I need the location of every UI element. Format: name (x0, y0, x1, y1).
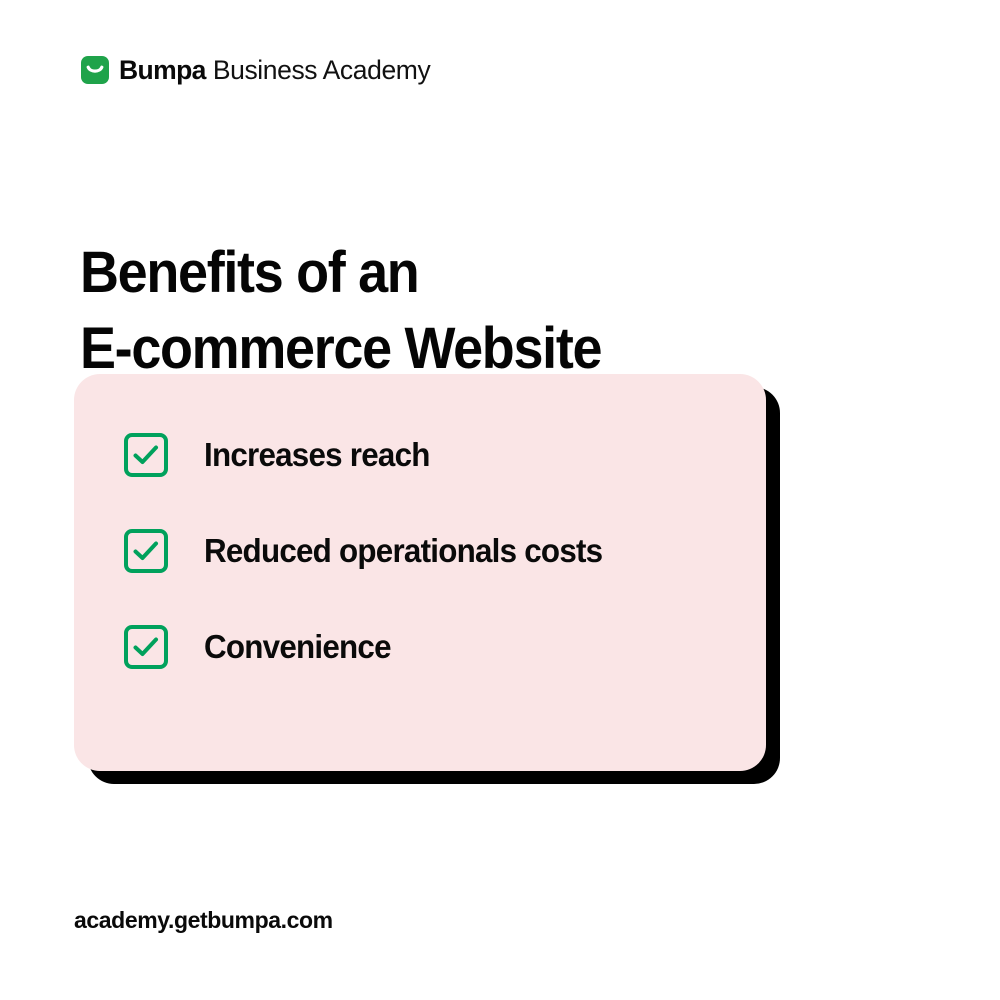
checkbox-checked-icon[interactable] (124, 625, 168, 669)
list-item-label: Increases reach (204, 436, 430, 474)
footer-url[interactable]: academy.getbumpa.com (74, 907, 333, 934)
brand-name: Bumpa (119, 55, 206, 86)
slide-canvas: Bumpa Business Academy Benefits of an E-… (0, 0, 1000, 1000)
list-item-label: Convenience (204, 628, 391, 666)
card-surface: Increases reach Reduced operationals cos… (74, 374, 766, 771)
list-item-label: Reduced operationals costs (204, 532, 602, 570)
list-item[interactable]: Increases reach (124, 433, 623, 477)
benefits-list: Increases reach Reduced operationals cos… (124, 433, 623, 669)
page-title: Benefits of an E-commerce Website (80, 235, 731, 387)
bumpa-smile-icon (81, 56, 109, 84)
checkbox-checked-icon[interactable] (124, 529, 168, 573)
brand-logo[interactable]: Bumpa Business Academy (81, 51, 430, 89)
brand-wordmark: Bumpa Business Academy (119, 55, 430, 86)
list-item[interactable]: Reduced operationals costs (124, 529, 623, 573)
brand-subtitle: Business Academy (213, 55, 431, 86)
checkbox-checked-icon[interactable] (124, 433, 168, 477)
page-title-line-1: Benefits of an (80, 235, 731, 311)
list-item[interactable]: Convenience (124, 625, 623, 669)
benefits-card: Increases reach Reduced operationals cos… (74, 374, 780, 784)
